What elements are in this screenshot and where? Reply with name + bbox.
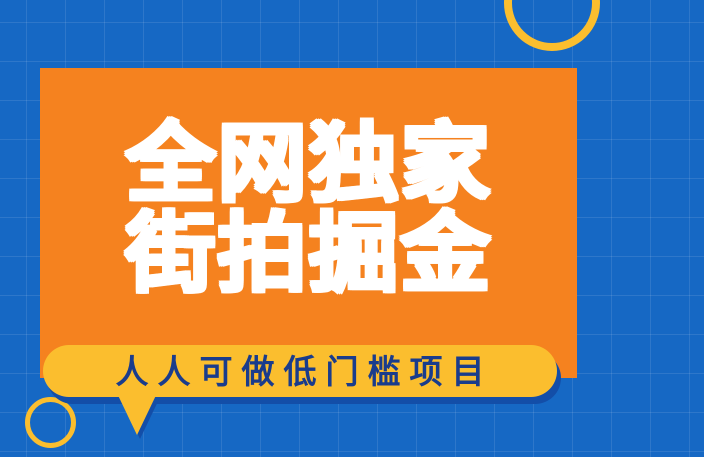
- headline-line-1: 全网独家: [125, 122, 491, 206]
- headline-block: 全网独家 街拍掘金: [40, 68, 577, 350]
- circle-ring-bottom-icon: [25, 397, 76, 448]
- speech-bubble-body: 人人可做低门槛项目: [43, 345, 557, 397]
- subtitle-speech-bubble: 人人可做低门槛项目: [43, 345, 557, 397]
- poster-canvas: 全网独家 街拍掘金 人人可做低门槛项目: [0, 0, 704, 457]
- headline-line-2: 街拍掘金: [125, 212, 491, 296]
- subtitle-text: 人人可做低门槛项目: [107, 355, 494, 388]
- circle-ring-top-icon: [504, 0, 600, 51]
